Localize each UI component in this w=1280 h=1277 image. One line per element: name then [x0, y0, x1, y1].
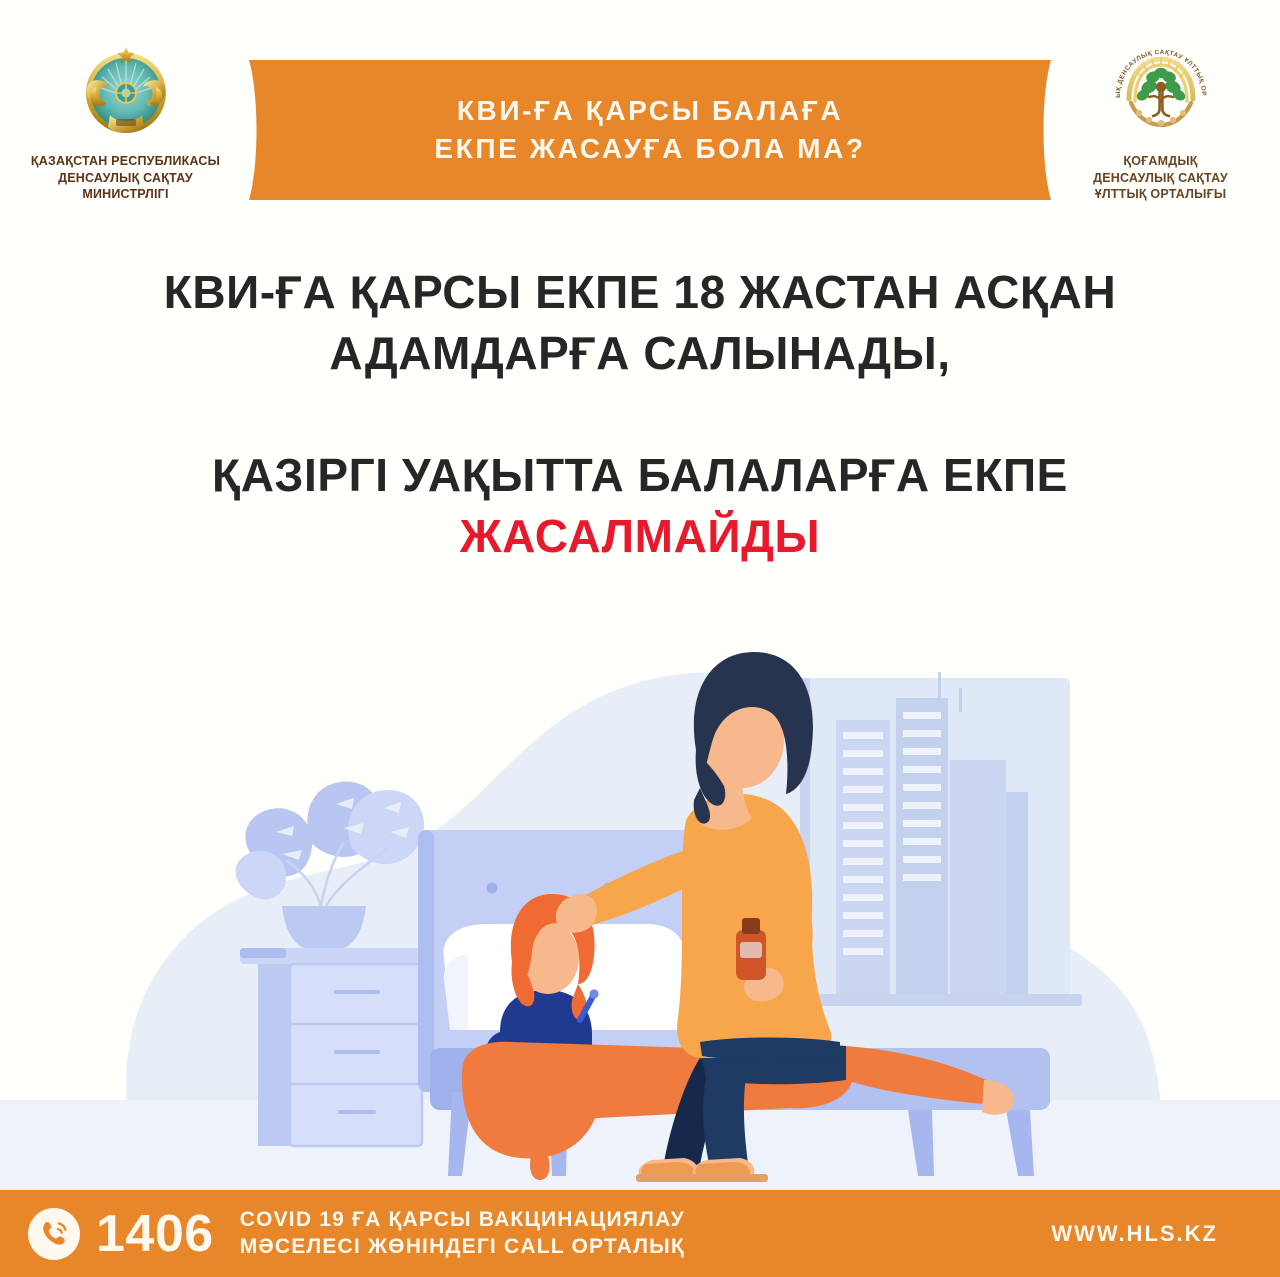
hotline-number: 1406: [96, 1208, 214, 1260]
infographic-poster: ҚАЗАҚСТАН РЕСПУБЛИКАСЫ ДЕНСАУЛЫҚ САҚТАУ …: [0, 0, 1280, 1277]
ministry-caption-line-2: ДЕНСАУЛЫҚ САҚТАУ: [18, 170, 233, 187]
public-health-logo-caption: ҚОҒАМДЫҚ ДЕНСАУЛЫҚ САҚТАУ ҰЛТТЫҚ ОРТАЛЫҒ…: [1053, 153, 1268, 203]
window-with-city-skyline: [790, 672, 1082, 1006]
hotline-description-line-2: МӘСЕЛЕСІ ЖӨНІНДЕГІ CALL ОРТАЛЫҚ: [240, 1234, 685, 1261]
hotline-description: COVID 19 ҒА ҚАРСЫ ВАКЦИНАЦИЯЛАУ МӘСЕЛЕСІ…: [240, 1207, 685, 1261]
ministry-logo-caption: ҚАЗАҚСТАН РЕСПУБЛИКАСЫ ДЕНСАУЛЫҚ САҚТАУ …: [18, 153, 233, 203]
banner-title-line-2: ЕКПЕ ЖАСАУҒА БОЛА МА?: [434, 133, 865, 165]
public-health-caption-line-1: ҚОҒАМДЫҚ: [1053, 153, 1268, 170]
website-url[interactable]: WWW.HLS.KZ: [1051, 1221, 1218, 1247]
message-block-1: КВИ-ҒА ҚАРСЫ ЕКПЕ 18 ЖАСТАН АСҚАН АДАМДА…: [0, 262, 1280, 383]
message-line-1: КВИ-ҒА ҚАРСЫ ЕКПЕ 18 ЖАСТАН АСҚАН: [0, 262, 1280, 323]
public-health-caption-line-2: ДЕНСАУЛЫҚ САҚТАУ: [1053, 170, 1268, 187]
header: ҚАЗАҚСТАН РЕСПУБЛИКАСЫ ДЕНСАУЛЫҚ САҚТАУ …: [0, 0, 1280, 225]
banner-title: КВИ-ҒА ҚАРСЫ БАЛАҒА ЕКПЕ ЖАСАУҒА БОЛА МА…: [239, 60, 1061, 200]
message-line-3: ҚАЗІРГІ УАҚЫТТА БАЛАЛАРҒА ЕКПЕ: [0, 445, 1280, 506]
illustration-mother-and-child: [0, 580, 1280, 1195]
nightstand-with-drawers: [240, 948, 428, 1146]
ministry-caption-line-1: ҚАЗАҚСТАН РЕСПУБЛИКАСЫ: [18, 153, 233, 170]
ministry-caption-line-3: МИНИСТРЛІГІ: [18, 186, 233, 203]
phone-call-icon: [26, 1206, 82, 1262]
main-message: КВИ-ҒА ҚАРСЫ ЕКПЕ 18 ЖАСТАН АСҚАН АДАМДА…: [0, 262, 1280, 567]
public-health-caption-line-3: ҰЛТТЫҚ ОРТАЛЫҒЫ: [1053, 186, 1268, 203]
message-line-2: АДАМДАРҒА САЛЫНАДЫ,: [0, 323, 1280, 384]
hotline-description-line-1: COVID 19 ҒА ҚАРСЫ ВАКЦИНАЦИЯЛАУ: [240, 1207, 685, 1234]
banner-title-line-1: КВИ-ҒА ҚАРСЫ БАЛАҒА: [457, 95, 843, 127]
footer-contact-bar: 1406 COVID 19 ҒА ҚАРСЫ ВАКЦИНАЦИЯЛАУ МӘС…: [0, 1190, 1280, 1277]
message-block-2: ҚАЗІРГІ УАҚЫТТА БАЛАЛАРҒА ЕКПЕ ЖАСАЛМАЙД…: [0, 445, 1280, 566]
message-accent-word: ЖАСАЛМАЙДЫ: [0, 506, 1280, 567]
header-banner: КВИ-ҒА ҚАРСЫ БАЛАҒА ЕКПЕ ЖАСАУҒА БОЛА МА…: [239, 60, 1061, 200]
ministry-of-health-logo: ҚАЗАҚСТАН РЕСПУБЛИКАСЫ ДЕНСАУЛЫҚ САҚТАУ …: [18, 42, 233, 203]
public-health-center-logo: ҚОҒАМДЫҚ ДЕНСАУЛЫҚ САҚТАУ ҰЛТТЫҚ ОРТАЛЫҒ…: [1053, 42, 1268, 203]
public-health-tree-emblem-icon: ҚОҒАМДЫҚ ДЕНСАУЛЫҚ САҚТАУ ҰЛТТЫҚ ОРТАЛЫҒ…: [1053, 42, 1268, 147]
kazakhstan-state-emblem-icon: [18, 42, 233, 147]
